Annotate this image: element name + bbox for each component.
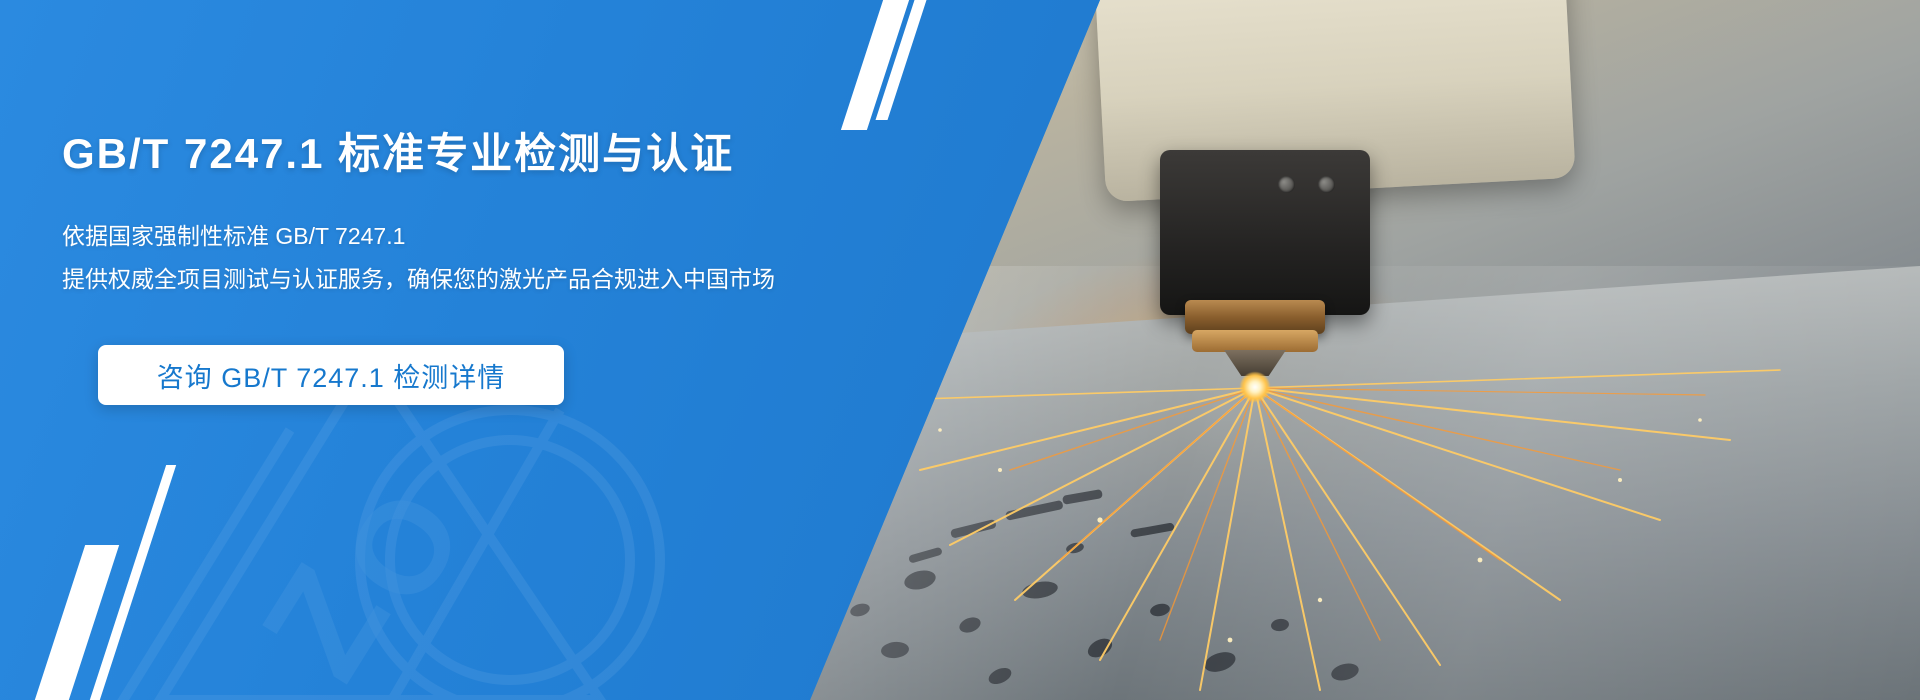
subtitle-line-2: 提供权威全项目测试与认证服务，确保您的激光产品合规进入中国市场 [62,258,775,301]
banner-content: GB/T 7247.1 标准专业检测与认证 依据国家强制性标准 GB/T 724… [0,0,960,700]
page-title: GB/T 7247.1 标准专业检测与认证 [62,120,734,181]
consult-details-button[interactable]: 咨询 GB/T 7247.1 检测详情 [98,345,564,405]
hero-banner: Z O I GB/T 7247.1 标准专业检测与认证 依据国家强制性标准 GB… [0,0,1920,700]
laser-spark-core [1240,372,1270,402]
subtitle-line-1: 依据国家强制性标准 GB/T 7247.1 [62,215,775,258]
banner-subtitle: 依据国家强制性标准 GB/T 7247.1 提供权威全项目测试与认证服务，确保您… [62,215,775,301]
